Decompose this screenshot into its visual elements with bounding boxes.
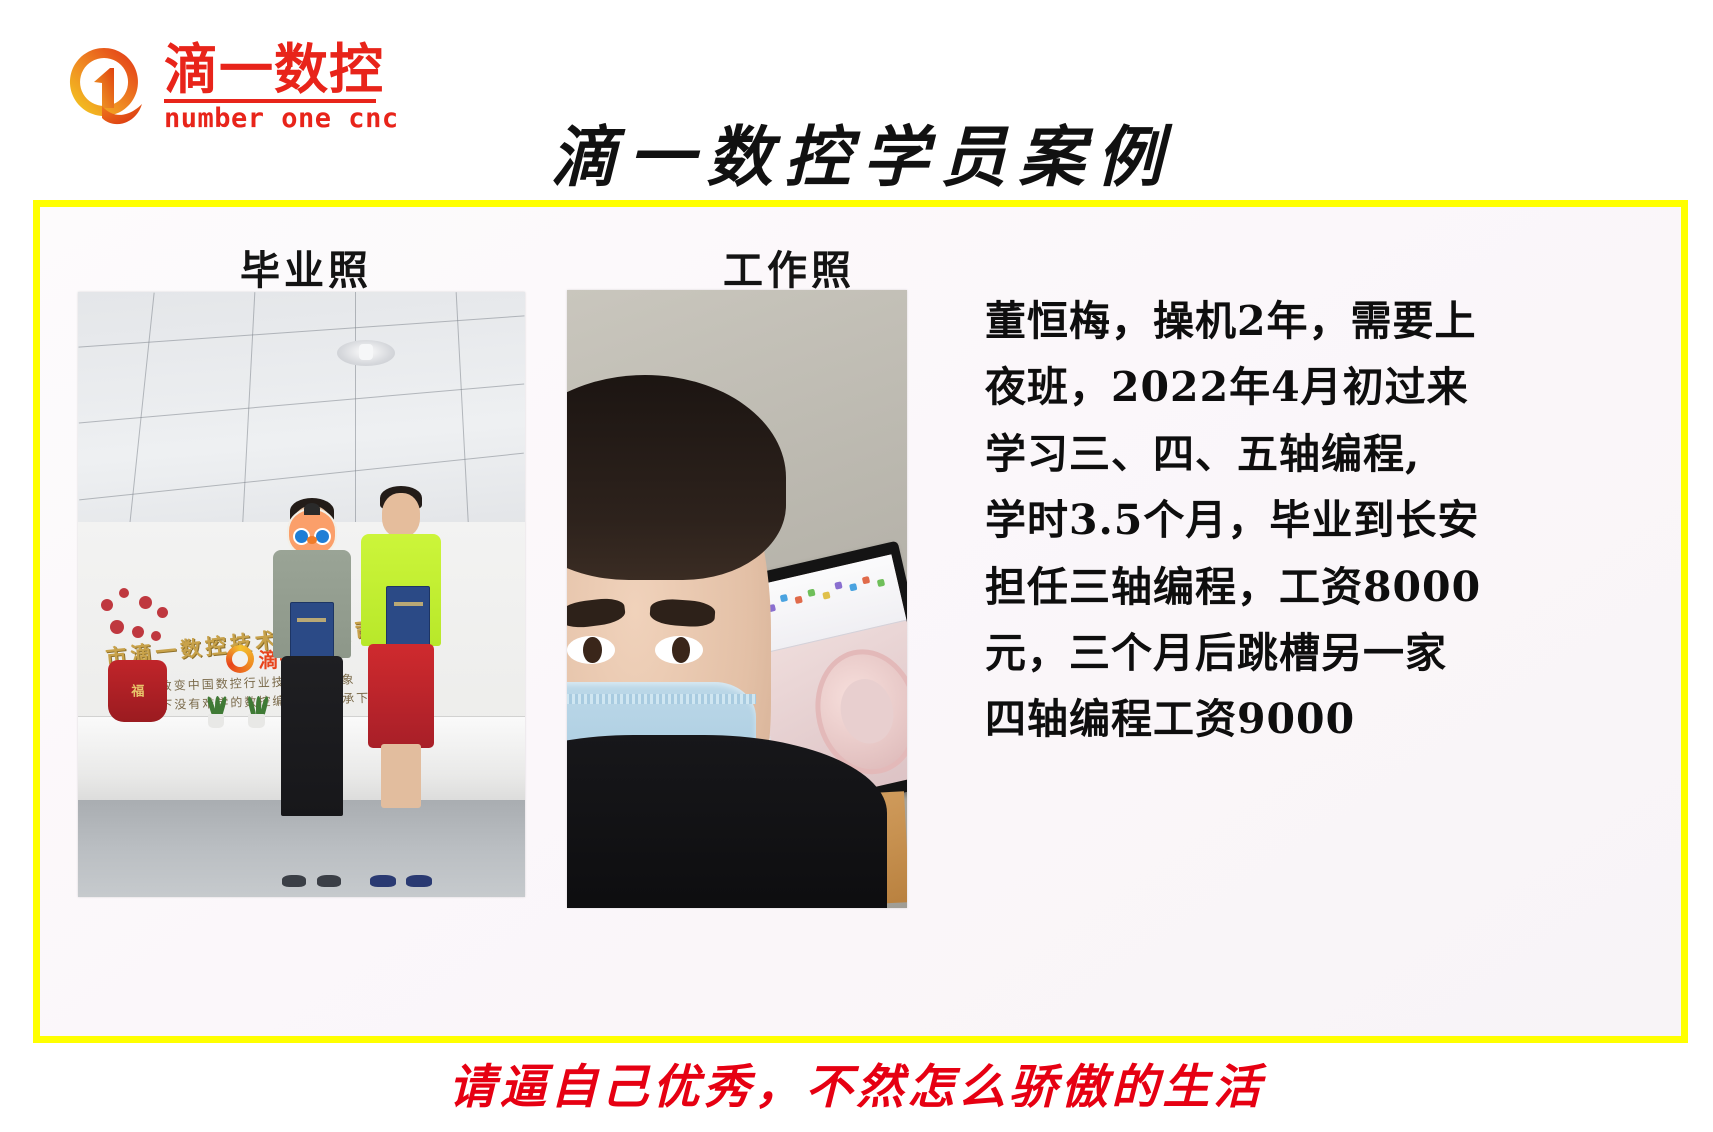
mask-crest-icon [304, 503, 320, 515]
case-line: 担任三轴编程，工资8000 [985, 554, 1625, 620]
brand-name-cn: 滴一数控 [164, 44, 379, 96]
work-photo [567, 290, 907, 908]
ceiling-light [337, 340, 395, 366]
case-line: 夜班，2022年4月初过来 [985, 354, 1625, 420]
case-line: 元，三个月后跳槽另一家 [985, 620, 1625, 686]
case-line: 四轴编程工资9000 [985, 686, 1625, 752]
certificate-right [386, 586, 430, 646]
case-line: 学时3.5个月，毕业到长安 [985, 487, 1625, 553]
caption-graduation-photo: 毕业照 [240, 238, 372, 296]
caption-work-photo: 工作照 [723, 238, 855, 296]
shoe-left-pair [282, 875, 306, 887]
shoe-right-pair [317, 875, 341, 887]
graduation-photo-scene: 市滴一数控技术有限公司 滴一数控 致力改变中国数控行业技术保守现象 让天下没有难… [78, 292, 525, 897]
case-description-text: 董恒梅，操机2年，需要上 夜班，2022年4月初过来 学习三、四、五轴编程, 学… [985, 288, 1625, 753]
sandal-right [406, 875, 432, 887]
red-flower-arrangement [96, 588, 185, 721]
case-line: 董恒梅，操机2年，需要上 [985, 288, 1625, 354]
red-vase-with-fu-character [108, 660, 167, 721]
cartoon-face-mask-overlay [287, 508, 337, 556]
potted-plant-left [203, 698, 229, 728]
sandal-left [370, 875, 396, 887]
case-line: 学习三、四、五轴编程, [985, 421, 1625, 487]
mask-nose-icon [307, 536, 317, 544]
page-header: 滴一数控 number one cnc 滴一数控学员案例 [0, 0, 1713, 200]
graduate-student-right [355, 486, 447, 885]
black-tshirt [567, 735, 887, 908]
page-title: 滴一数控学员案例 [0, 104, 1713, 200]
certificate-left [290, 602, 334, 662]
wall-logo-ring-icon [226, 645, 254, 673]
mask-eye-right-icon [314, 528, 331, 545]
footer-slogan: 请逼自己优秀，不然怎么骄傲的生活 [0, 1048, 1713, 1117]
work-photo-scene [567, 290, 907, 908]
hair [567, 375, 786, 580]
graduation-photo: 市滴一数控技术有限公司 滴一数控 致力改变中国数控行业技术保守现象 让天下没有难… [78, 292, 525, 897]
graduate-student-left [266, 498, 358, 885]
